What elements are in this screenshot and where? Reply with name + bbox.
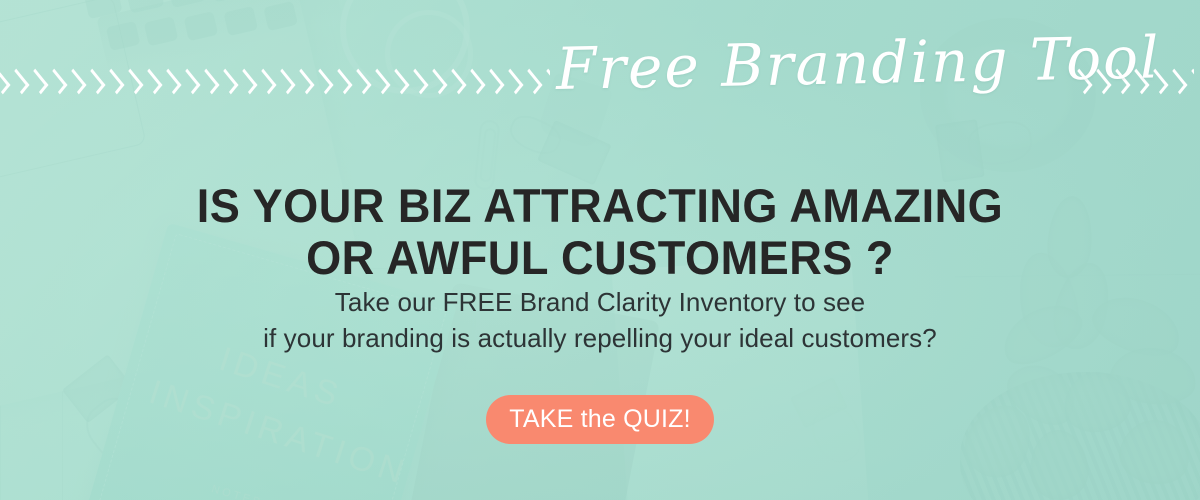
subheading-line-2: if your branding is actually repelling y… <box>0 320 1200 356</box>
banner-content: IS YOUR BIZ ATTRACTING AMAZING OR AWFUL … <box>0 0 1200 500</box>
headline-line-1: IS YOUR BIZ ATTRACTING AMAZING <box>24 180 1176 232</box>
promo-banner: IDEAS INSPIRATION NOTEBOOK Free Br <box>0 0 1200 500</box>
headline-line-2: OR AWFUL CUSTOMERS ? <box>24 232 1176 284</box>
cta-container: TAKE the QUIZ! <box>0 395 1200 444</box>
subheading-line-1: Take our FREE Brand Clarity Inventory to… <box>0 284 1200 320</box>
headline: IS YOUR BIZ ATTRACTING AMAZING OR AWFUL … <box>24 180 1176 284</box>
take-quiz-button[interactable]: TAKE the QUIZ! <box>486 395 714 444</box>
subheading: Take our FREE Brand Clarity Inventory to… <box>0 284 1200 356</box>
